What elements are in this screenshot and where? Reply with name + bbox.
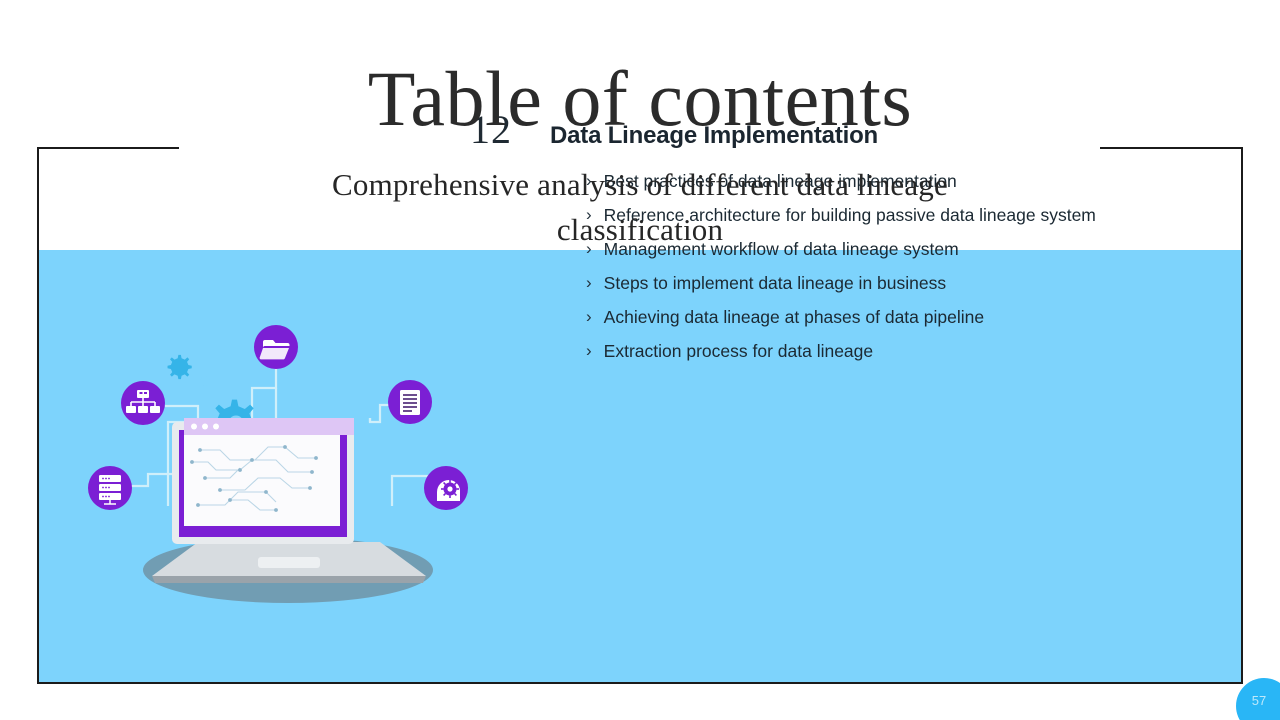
page-number-label: 57	[1252, 693, 1266, 708]
page-number-badge: 57	[1236, 678, 1280, 720]
chevron-right-icon: ›	[586, 266, 592, 300]
window-dot	[191, 424, 197, 430]
frame-border-bottom	[37, 682, 1243, 684]
chevron-right-icon: ›	[586, 334, 592, 368]
list-item-label: Steps to implement data lineage in busin…	[604, 266, 946, 300]
laptop-screen	[184, 435, 340, 526]
laptop-base-edge	[152, 576, 426, 583]
head-gear-icon	[424, 466, 468, 510]
frame-border-top-left	[37, 147, 179, 149]
folder-icon	[254, 325, 298, 369]
window-dot	[213, 424, 219, 430]
data-lineage-laptop-illustration	[80, 310, 500, 610]
slide-canvas: Table of contents Comprehensive analysis…	[0, 0, 1280, 720]
database-icon	[88, 466, 132, 510]
list-item-label: Achieving data lineage at phases of data…	[604, 300, 984, 334]
laptop-window-titlebar	[184, 418, 354, 435]
chevron-right-icon: ›	[586, 300, 592, 334]
list-item[interactable]: › Extraction process for data lineage	[586, 334, 1190, 368]
page-number-wrap: 57	[1220, 660, 1280, 720]
page-subtitle: Comprehensive analysis of different data…	[290, 162, 990, 252]
page-title: Table of contents	[0, 57, 1280, 141]
list-item-label: Extraction process for data lineage	[604, 334, 873, 368]
document-icon	[388, 380, 432, 424]
window-dot	[202, 424, 208, 430]
list-item[interactable]: › Steps to implement data lineage in bus…	[586, 266, 1190, 300]
sitemap-icon	[121, 381, 165, 425]
list-item[interactable]: › Achieving data lineage at phases of da…	[586, 300, 1190, 334]
frame-border-right	[1241, 147, 1243, 684]
laptop-trackpad	[258, 557, 320, 568]
